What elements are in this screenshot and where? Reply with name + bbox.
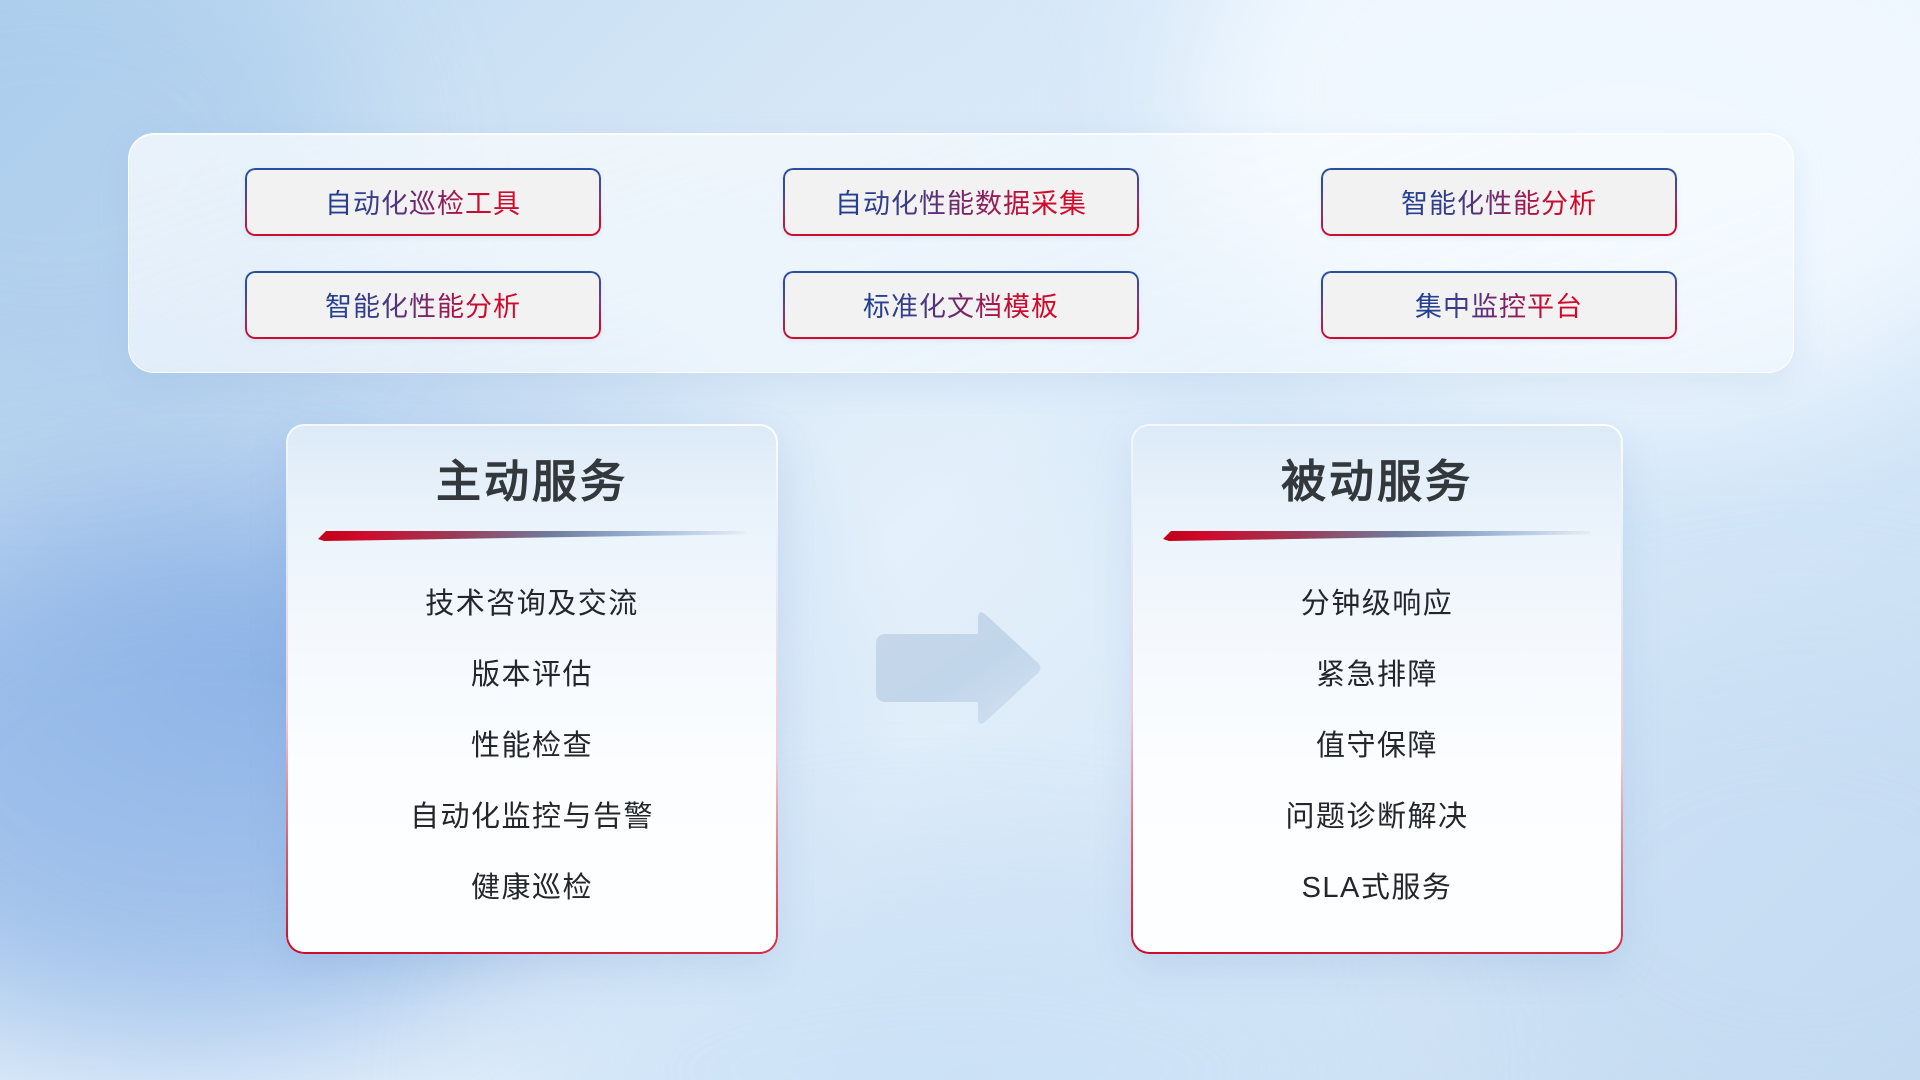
capability-tag-label: 集中监控平台 — [1415, 285, 1583, 324]
service-card-proactive: 主动服务 技术咨询及交流 版本评估 性能检查 — [286, 424, 778, 954]
list-item: 技术咨询及交流 — [286, 569, 778, 640]
title-divider — [1163, 529, 1591, 541]
list-item: 版本评估 — [286, 640, 778, 711]
capability-tag-label: 自动化性能数据采集 — [835, 182, 1087, 221]
capability-tag[interactable]: 智能化性能分析 — [1321, 168, 1677, 236]
capability-tag-label: 自动化巡检工具 — [325, 182, 521, 221]
service-card-reactive: 被动服务 分钟级响应 紧急排障 值守保障 — [1131, 424, 1623, 954]
capability-tag[interactable]: 自动化巡检工具 — [245, 168, 601, 236]
capability-tags-panel: 自动化巡检工具 自动化性能数据采集 智能化性能分析 智能化性能分析 标准化文档模… — [128, 133, 1794, 373]
list-item: 值守保障 — [1131, 711, 1623, 782]
list-item: 性能检查 — [286, 711, 778, 782]
list-item: 健康巡检 — [286, 853, 778, 924]
capability-tag[interactable]: 自动化性能数据采集 — [783, 168, 1139, 236]
diagram-canvas: 自动化巡检工具 自动化性能数据采集 智能化性能分析 智能化性能分析 标准化文档模… — [0, 0, 1920, 1080]
list-item: 分钟级响应 — [1131, 569, 1623, 640]
list-item: 自动化监控与告警 — [286, 782, 778, 853]
capability-tag-label: 智能化性能分析 — [325, 285, 521, 324]
card-title: 被动服务 — [1131, 424, 1623, 507]
arrow-right-icon — [872, 610, 1042, 730]
capability-tag-label: 智能化性能分析 — [1401, 182, 1597, 221]
title-divider — [318, 529, 746, 541]
list-item: 紧急排障 — [1131, 640, 1623, 711]
service-item-list: 技术咨询及交流 版本评估 性能检查 自动化监控与告警 健康巡检 — [286, 541, 778, 924]
list-item: SLA式服务 — [1131, 853, 1623, 924]
card-title: 主动服务 — [286, 424, 778, 507]
capability-tag[interactable]: 智能化性能分析 — [245, 271, 601, 339]
list-item: 问题诊断解决 — [1131, 782, 1623, 853]
service-item-list: 分钟级响应 紧急排障 值守保障 问题诊断解决 SLA式服务 — [1131, 541, 1623, 924]
capability-tag[interactable]: 集中监控平台 — [1321, 271, 1677, 339]
capability-tag[interactable]: 标准化文档模板 — [783, 271, 1139, 339]
capability-tag-label: 标准化文档模板 — [863, 285, 1059, 324]
